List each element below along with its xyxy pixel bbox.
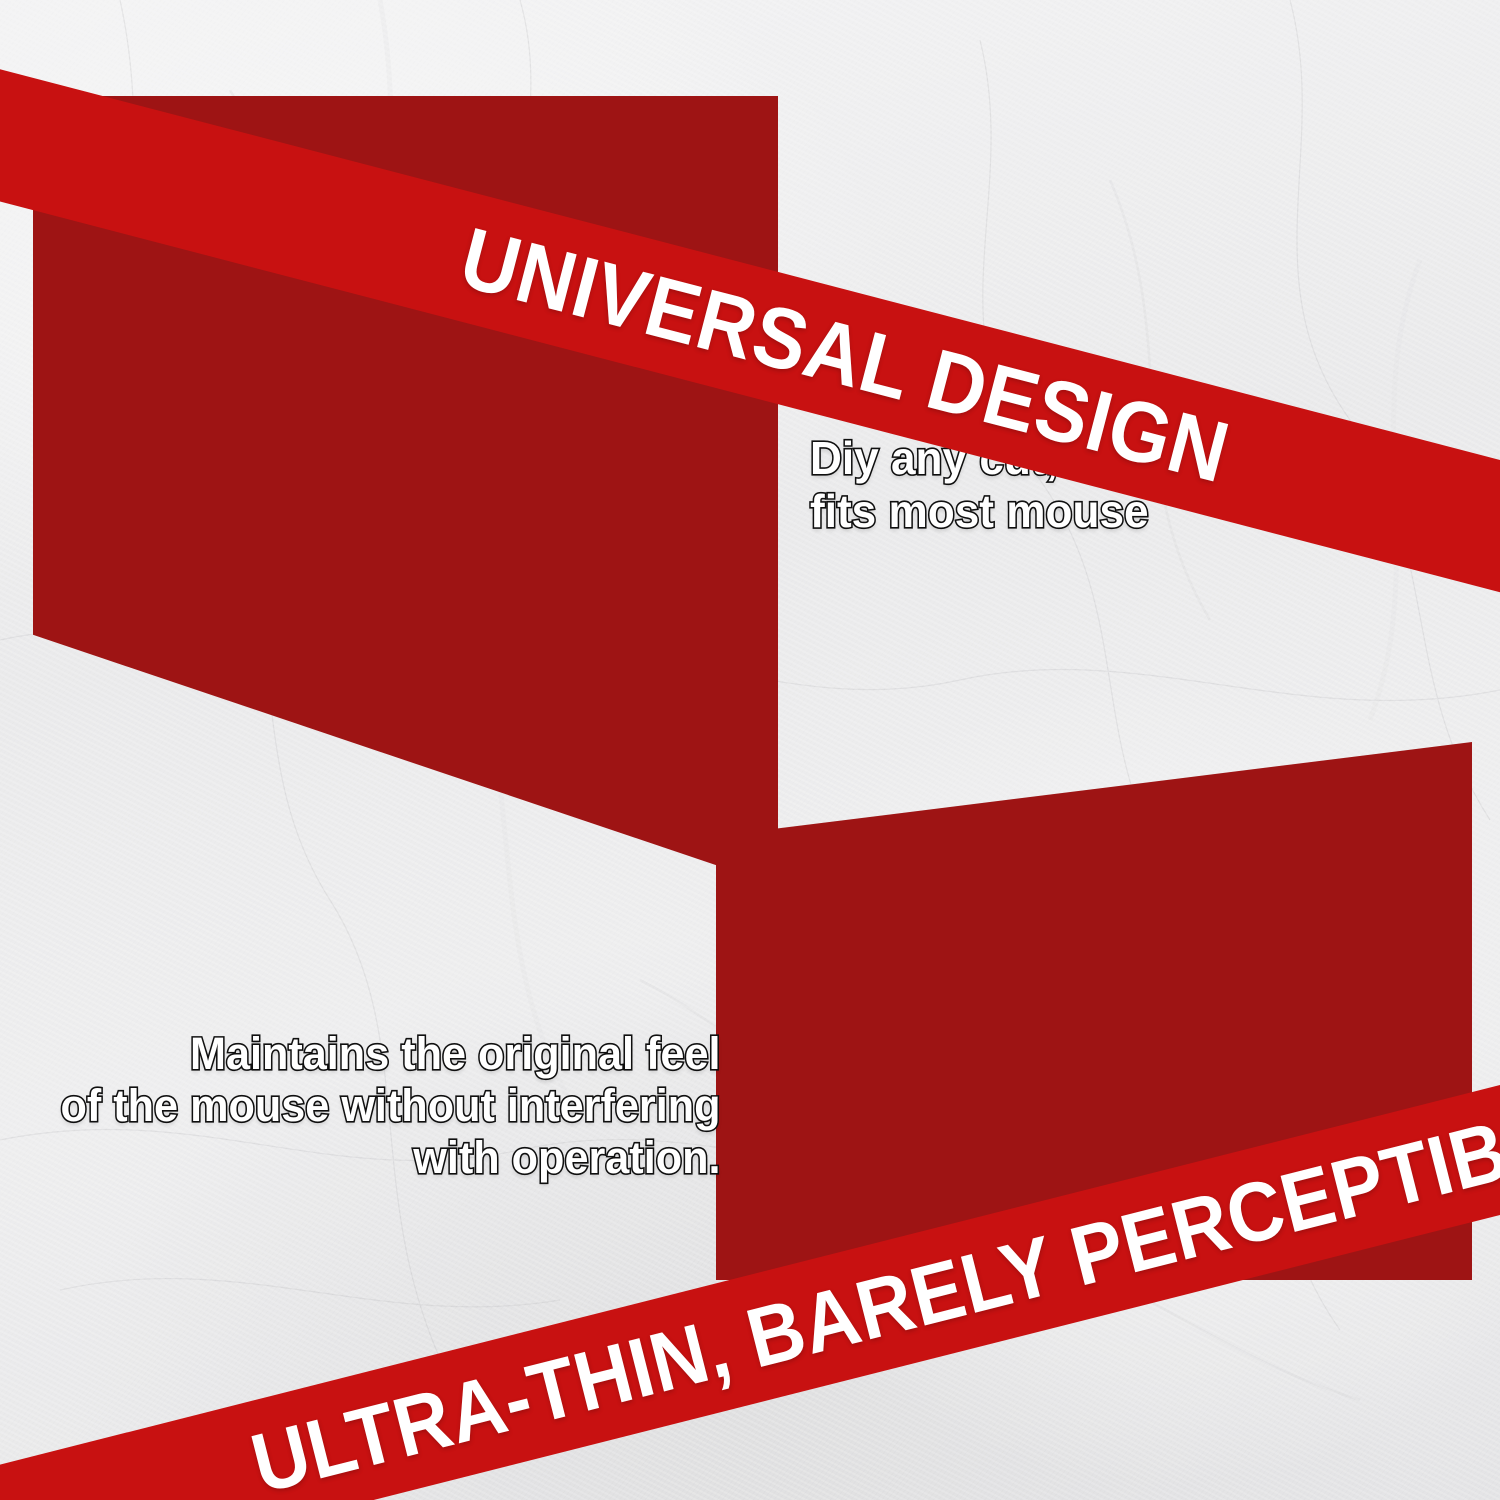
fingernail	[1127, 859, 1246, 978]
caption-feel-line-3: with operation.	[60, 1132, 720, 1184]
caption-feel-line-2: of the mouse without interfering	[60, 1080, 720, 1132]
caption-diy-line-2: fits most mouse	[810, 485, 1149, 538]
caption-original-feel: Maintains the original feel of the mouse…	[33, 1028, 720, 1185]
poster-canvas: UNIVERSAL DESIGN ULTRA-THIN, BARELY PERC…	[0, 0, 1500, 1500]
fingernail	[1264, 865, 1374, 978]
caption-feel-line-1: Maintains the original feel	[60, 1028, 720, 1080]
